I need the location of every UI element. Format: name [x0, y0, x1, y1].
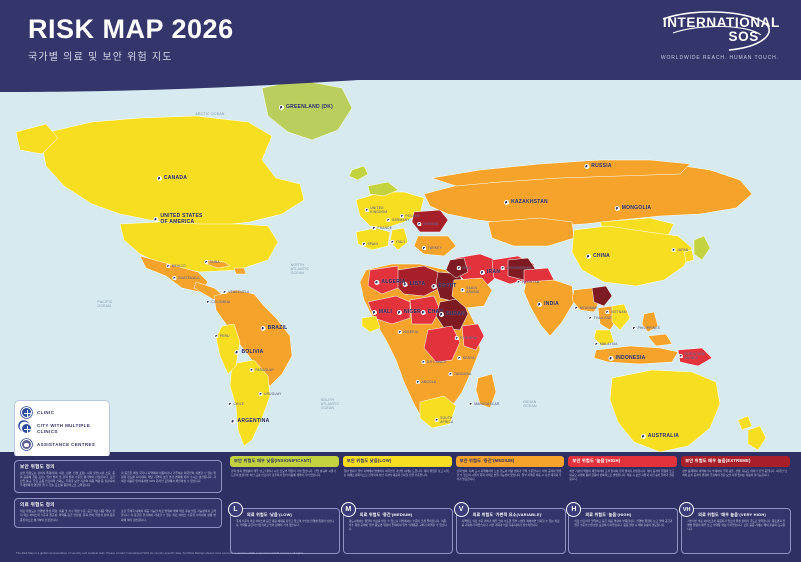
legend-row-assistance-centres: ASSISTANCE CENTRES: [21, 439, 103, 450]
map-country-name: UNITED STATES OF AMERICA: [160, 213, 202, 225]
map-country-name: MEXICO: [172, 264, 186, 268]
map-country-label[interactable]: URUGUAY: [258, 392, 281, 396]
footnote-disclaimer: The Risk Map is a global representation …: [16, 552, 304, 555]
map-country-name: GERMANY: [392, 218, 410, 222]
map-country-name: VENEZUELA: [228, 290, 249, 294]
definitions-column: 보안 위험도 정의보안 위험도는 정치적 폭력(테러, 내란, 정변, 전쟁 포…: [14, 460, 222, 533]
map-country-name: SAUDI ARABIA: [466, 286, 479, 294]
security-band-header-low[interactable]: 보안 위험도 낮음(LOW): [343, 456, 452, 467]
definition-body: 보안 위험도는 정치적 폭력(테러, 내란, 정변, 전쟁 포함), 사회 불안…: [20, 472, 115, 488]
map-country-name: INDONESIA: [615, 355, 645, 361]
security-band-body-insignificant: 강력 범죄 발생률이 매우 낮고 테러나 시민 소요의 위협이 거의 없습니다.…: [230, 467, 339, 509]
poster-header: RISK MAP 2026 국가별 의료 및 보안 위험 지도 INTERNAT…: [0, 0, 801, 80]
map-country-name: GUATEMALA: [178, 276, 200, 280]
map-country-name: POLAND: [405, 214, 420, 218]
medical-band-body-low: 국제 수준의 의료 서비스와 응급 대응 체계를 갖추고 있으며 수인성 전염병…: [231, 519, 339, 528]
map-country-label[interactable]: PAPUA NEW GUINEA: [679, 352, 706, 360]
medical-band-title-very-high: 의료 위험도 '매우 높음'(VERY HIGH): [698, 512, 766, 518]
map-country-name: COLOMBIA: [211, 300, 230, 304]
clinic-plus-icon: [386, 218, 390, 222]
clinic-plus-icon: [258, 392, 262, 396]
definition-column: 보안 위험도는 정치적 폭력(테러, 내란, 정변, 전쟁 포함), 사회 불안…: [20, 472, 115, 488]
definition-body: 의료 위험도는 전염병 발생 위험, 식품 및 식수 위생 수준, 응급 의료 …: [20, 510, 115, 522]
map-country-name: KENYA: [463, 356, 475, 360]
map-country-label[interactable]: ITALY: [390, 240, 405, 244]
security-band-body-extreme: 정부 통제력이 미약하거나 부재하며 무력 충돌, 전쟁, 대규모 테러가 진행…: [681, 467, 790, 509]
map-country-label[interactable]: SOUTH AFRICA: [435, 416, 454, 424]
map-country-label[interactable]: LIBYA: [403, 281, 426, 287]
risk-bands-row: 보안 위험도 매우 낮음(INSIGNIFICANT)강력 범죄 발생률이 매우…: [230, 456, 790, 554]
security-band-header-extreme[interactable]: 보안 위험도 매우 높음(EXTREME): [681, 456, 790, 467]
clinic-plus-icon: [517, 280, 521, 284]
map-country-label[interactable]: JAPAN: [672, 248, 689, 252]
map-country-label[interactable]: IRAQ: [457, 266, 471, 270]
assistance-centre-icon: [21, 439, 32, 450]
medical-band-card-variable: V의료 위험도 '가변적 요소(VARIABLE)'지역별로 의료 수준 편차가…: [456, 508, 566, 554]
map-country-name: ITALY: [396, 240, 406, 244]
clinic-plus-icon: [504, 200, 509, 205]
map-country-name: URUGUAY: [264, 392, 281, 396]
medical-band-body-very-high: 기본적인 의료 서비스조차 제공되지 않으며 위생 상태가 극도로 열악합니다.…: [682, 519, 790, 532]
map-country-label[interactable]: MEXICO: [166, 264, 186, 268]
map-country-label[interactable]: COLOMBIA: [206, 300, 230, 304]
definition-card: 의료 위험도 정의의료 위험도는 전염병 발생 위험, 식품 및 식수 위생 수…: [14, 498, 222, 527]
clinic-plus-icon: [574, 306, 578, 310]
risk-map-poster: RISK MAP 2026 국가별 의료 및 보안 위험 지도 INTERNAT…: [0, 0, 801, 562]
map-country-name: SUDAN: [446, 311, 465, 317]
definition-card: 보안 위험도 정의보안 위험도는 정치적 폭력(테러, 내란, 정변, 전쟁 포…: [14, 460, 222, 493]
legend-label-multiple-clinics: CITY WITH MULTIPLE CLINICS: [37, 423, 103, 434]
clinic-plus-icon: [250, 368, 254, 372]
map-country-label[interactable]: PARAGUAY: [250, 368, 275, 372]
legend-label-assistance-centres: ASSISTANCE CENTRES: [37, 442, 95, 448]
clinic-plus-icon: [455, 336, 459, 340]
risk-band-column-insignificant: 보안 위험도 매우 낮음(INSIGNIFICANT)강력 범죄 발생률이 매우…: [230, 456, 339, 554]
map-country-label[interactable]: PAKISTAN: [517, 280, 540, 284]
medical-band-card-low: L의료 위험도 '낮음'(LOW)국제 수준의 의료 서비스와 응급 대응 체계…: [230, 508, 340, 554]
definition-column: 의료 위험도는 전염병 발생 위험, 식품 및 식수 위생 수준, 응급 의료 …: [20, 510, 115, 522]
clinic-plus-icon: [372, 310, 377, 315]
medical-band-title-medium: 의료 위험도 '중간'(MEDIUM): [360, 512, 413, 518]
clinic-plus-icon: [362, 242, 366, 246]
risk-band-column-low: 보안 위험도 낮음(LOW)일반 범죄가 일부 지역에서 발생하나 외국인을 겨…: [343, 456, 452, 554]
map-country-name: MYANMAR: [580, 306, 598, 310]
map-country-label[interactable]: MALAYSIA: [594, 342, 617, 346]
map-country-label[interactable]: THAILAND: [588, 316, 611, 320]
map-country-name: GREENLAND (DK): [286, 104, 333, 110]
map-country-name: INDIA: [544, 301, 559, 307]
clinic-plus-icon: [400, 214, 404, 218]
medical-band-body-medium: 대도시에서는 양질의 의료를 받을 수 있으나 지방에서는 수준이 크게 떨어집…: [344, 519, 452, 532]
map-country-name: PAKISTAN: [522, 280, 539, 284]
map-country-name: LIBYA: [410, 281, 426, 287]
definition-body: 각 등급은 해당 국가나 지역에서 이동하거나 거주하는 외국인이 직면할 수 …: [121, 472, 216, 484]
clinic-plus-icon: [21, 407, 32, 418]
map-country-name: ALGERIA: [381, 279, 405, 285]
security-band-body-high: 치안 기관의 역량이 제한적이며 조직 범죄와 강력 범죄가 빈번합니다. 테러…: [568, 467, 677, 509]
clinic-plus-icon: [390, 240, 394, 244]
map-country-label[interactable]: CANADA: [157, 175, 187, 181]
clinic-plus-icon: [421, 310, 426, 315]
map-country-label[interactable]: AUSTRALIA: [641, 433, 679, 439]
map-country-name: DR CONGO: [427, 360, 447, 364]
map-country-name: VIETNAM: [611, 310, 627, 314]
clinic-plus-icon: [537, 302, 542, 307]
clinic-plus-icon: [172, 276, 176, 280]
map-country-name: AFGHANISTAN: [506, 266, 531, 270]
map-country-name: NIGERIA: [403, 330, 418, 334]
clinic-plus-icon: [365, 208, 369, 212]
map-country-name: UKRAINE: [423, 222, 439, 226]
map-country-label[interactable]: CHILE: [228, 402, 244, 406]
clinic-plus-icon: [234, 350, 239, 355]
map-country-label[interactable]: ANGOLA: [416, 380, 436, 384]
map-country-label[interactable]: GUATEMALA: [172, 276, 199, 280]
clinic-plus-icon: [608, 356, 613, 361]
map-ocean-label: INDIAN OCEAN: [523, 400, 537, 408]
medical-band-title-variable: 의료 위험도 '가변적 요소(VARIABLE)': [473, 512, 543, 518]
map-country-name: CANADA: [164, 175, 187, 181]
multiple-clinics-icon: [21, 423, 32, 434]
brand-logo[interactable]: INTERNATIONAL SOS WORLDWIDE REACH. HUMAN…: [661, 16, 779, 61]
map-country-label[interactable]: ETHIOPIA: [455, 336, 477, 340]
medical-band-card-very-high: VH의료 위험도 '매우 높음'(VERY HIGH)기본적인 의료 서비스조차…: [681, 508, 791, 554]
risk-band-column-high: 보안 위험도 '높음'(HIGH)치안 기관의 역량이 제한적이며 조직 범죄와…: [568, 456, 677, 554]
map-country-name: MALAYSIA: [600, 342, 618, 346]
map-country-label[interactable]: UNITED STATES OF AMERICA: [153, 213, 202, 225]
map-country-label[interactable]: RUSSIA: [584, 163, 611, 169]
clinic-plus-icon: [206, 300, 210, 304]
map-country-label[interactable]: ALGERIA: [374, 279, 405, 285]
map-country-label[interactable]: INDONESIA: [608, 355, 645, 361]
clinic-plus-icon: [153, 217, 158, 222]
map-country-label[interactable]: TURKEY: [422, 246, 442, 250]
medical-band-badge-medium[interactable]: M: [341, 502, 356, 517]
logo-mark: INTERNATIONAL SOS: [661, 16, 773, 50]
medical-band-badge-variable[interactable]: V: [454, 502, 469, 517]
map-country-label[interactable]: VIETNAM: [605, 310, 627, 314]
page-subtitle: 국가별 의료 및 보안 위험 지도: [28, 48, 234, 63]
clinic-plus-icon: [166, 264, 170, 268]
definition-title: 보안 위험도 정의: [15, 461, 221, 472]
map-country-name: ETHIOPIA: [460, 336, 477, 340]
clinic-plus-icon: [228, 402, 232, 406]
security-band-body-low: 일반 범죄가 일부 지역에서 발생하나 외국인을 겨냥한 사례는 드뭅니다. 테…: [343, 467, 452, 509]
medical-band-badge-low[interactable]: L: [228, 502, 243, 517]
clinic-plus-icon: [457, 356, 461, 360]
map-country-label[interactable]: UKRAINE: [417, 222, 439, 226]
clinic-plus-icon: [398, 330, 402, 334]
map-country-label[interactable]: MYANMAR: [574, 306, 597, 310]
map-country-label[interactable]: MALI: [372, 309, 392, 315]
map-country-name: BOLIVIA: [241, 349, 263, 355]
map-country-name: CHILE: [233, 402, 244, 406]
map-country-name: FRANCE: [377, 226, 392, 230]
risk-band-column-medium: 보안 위험도 '중간'(MEDIUM)강력 범죄, 특히 도시 지역에서의 노상…: [456, 456, 565, 554]
clinic-plus-icon: [231, 419, 236, 424]
definition-body: 또한 주재국 내에서 제공 가능한 치료 범위와 해외 의료 후송 필요 가능성…: [121, 510, 216, 522]
map-country-label[interactable]: NIGER: [397, 309, 421, 315]
medical-band-header: 의료 위험도 '낮음'(LOW): [231, 509, 339, 519]
logo-text-sos: SOS: [661, 30, 773, 44]
risk-band-column-extreme: 보안 위험도 매우 높음(EXTREME)정부 통제력이 미약하거나 부재하며 …: [681, 456, 790, 554]
map-country-name: ANGOLA: [421, 380, 436, 384]
map-country-name: EGYPT: [438, 283, 456, 289]
clinic-plus-icon: [372, 226, 376, 230]
map-country-label[interactable]: CUBA: [204, 260, 219, 264]
map-country-name: CHINA: [593, 253, 610, 259]
title-block: RISK MAP 2026 국가별 의료 및 보안 위험 지도: [28, 14, 234, 63]
medical-band-header: 의료 위험도 '가변적 요소(VARIABLE)': [457, 509, 565, 519]
map-country-label[interactable]: GERMANY: [386, 218, 409, 222]
legend-label-clinic: CLINIC: [37, 410, 54, 416]
map-country-name: IRAQ: [462, 266, 471, 270]
medical-band-header: 의료 위험도 '매우 높음'(VERY HIGH): [682, 509, 790, 519]
map-country-label[interactable]: KENYA: [457, 356, 474, 360]
map-country-label[interactable]: GREENLAND (DK): [279, 104, 333, 110]
map-country-name: NIGER: [404, 309, 421, 315]
clinic-plus-icon: [641, 434, 646, 439]
map-country-name: BRAZIL: [268, 325, 288, 331]
medical-band-card-medium: M의료 위험도 '중간'(MEDIUM)대도시에서는 양질의 의료를 받을 수 …: [343, 508, 453, 554]
map-country-label[interactable]: CHINA: [586, 253, 610, 259]
clinic-plus-icon: [261, 326, 266, 331]
clinic-plus-icon: [374, 280, 379, 285]
map-country-label[interactable]: PERU: [214, 334, 229, 338]
medical-band-title-high: 의료 위험도 '높음'(HIGH): [585, 512, 631, 518]
clinic-plus-icon: [431, 284, 436, 289]
clinic-plus-icon: [615, 206, 620, 211]
map-country-label[interactable]: SUDAN: [439, 311, 465, 317]
map-country-label[interactable]: BRAZIL: [261, 325, 288, 331]
map-country-name: PERU: [220, 334, 230, 338]
map-country-name: KAZAKHSTAN: [511, 199, 548, 205]
map-country-label[interactable]: SAUDI ARABIA: [461, 286, 480, 294]
map-country-label[interactable]: POLAND: [400, 214, 420, 218]
clinic-plus-icon: [501, 266, 505, 270]
map-country-label[interactable]: IRAN: [480, 269, 500, 275]
map-country-label[interactable]: TANZANIA: [448, 372, 471, 376]
map-country-label[interactable]: ARGENTINA: [231, 418, 270, 424]
medical-band-body-variable: 지역별로 의료 수준 편차가 매우 크며 수도권 일부 시설을 제외하면 신뢰할…: [457, 519, 565, 528]
map-country-label[interactable]: SPAIN: [362, 242, 378, 246]
map-country-label[interactable]: FRANCE: [372, 226, 392, 230]
clinic-plus-icon: [421, 360, 425, 364]
clinic-plus-icon: [417, 222, 421, 226]
clinic-plus-icon: [416, 380, 420, 384]
map-country-name: RUSSIA: [591, 163, 611, 169]
map-country-name: PHILIPPINES: [638, 326, 660, 330]
medical-band-header: 의료 위험도 '높음'(HIGH): [569, 509, 677, 519]
clinic-plus-icon: [204, 260, 208, 264]
map-country-name: UNITED KINGDOM: [370, 206, 387, 214]
map-legend-key: CLINIC CITY WITH MULTIPLE CLINICS ASSIST…: [14, 400, 110, 456]
page-title: RISK MAP 2026: [28, 14, 234, 44]
map-country-label[interactable]: NIGERIA: [398, 330, 418, 334]
clinic-plus-icon: [439, 312, 444, 317]
map-country-name: JAPAN: [677, 248, 688, 252]
clinic-plus-icon: [457, 266, 461, 270]
clinic-plus-icon: [586, 254, 591, 259]
clinic-plus-icon: [672, 248, 676, 252]
map-country-name: SPAIN: [368, 242, 379, 246]
security-band-header-high[interactable]: 보안 위험도 '높음'(HIGH): [568, 456, 677, 467]
clinic-plus-icon: [469, 402, 473, 406]
clinic-plus-icon: [397, 310, 402, 315]
map-country-label[interactable]: MADAGASCAR: [469, 402, 500, 406]
map-ocean-label: PACIFIC OCEAN: [97, 300, 112, 308]
map-country-label[interactable]: KAZAKHSTAN: [504, 199, 548, 205]
map-country-name: SOUTH AFRICA: [440, 416, 453, 424]
map-country-label[interactable]: DR CONGO: [421, 360, 446, 364]
map-country-name: TURKEY: [428, 246, 442, 250]
map-ocean-label: NORTH ATLANTIC OCEAN: [291, 263, 310, 275]
map-country-label[interactable]: AFGHANISTAN: [501, 266, 532, 270]
map-country-name: THAILAND: [594, 316, 612, 320]
map-country-name: TANZANIA: [454, 372, 472, 376]
map-country-name: PARAGUAY: [255, 368, 274, 372]
medical-band-title-low: 의료 위험도 '낮음'(LOW): [247, 512, 292, 518]
legend-row-clinic: CLINIC: [21, 407, 103, 418]
map-country-name: MALI: [379, 309, 392, 315]
legend-panel: 보안 위험도 정의보안 위험도는 정치적 폭력(테러, 내란, 정변, 전쟁 포…: [0, 452, 801, 562]
clinic-plus-icon: [588, 316, 592, 320]
clinic-plus-icon: [584, 164, 589, 169]
clinic-plus-icon: [157, 176, 162, 181]
security-band-header-medium[interactable]: 보안 위험도 '중간'(MEDIUM): [456, 456, 565, 467]
legend-row-multiple-clinics: CITY WITH MULTIPLE CLINICS: [21, 423, 103, 434]
map-country-label[interactable]: VENEZUELA: [223, 290, 250, 294]
definition-title: 의료 위험도 정의: [15, 499, 221, 510]
logo-tagline: WORLDWIDE REACH. HUMAN TOUCH.: [661, 55, 779, 61]
map-country-name: CUBA: [210, 260, 220, 264]
map-country-name: AUSTRALIA: [648, 433, 679, 439]
map-country-name: MADAGASCAR: [474, 402, 499, 406]
map-ocean-label: ARCTIC OCEAN: [195, 112, 224, 116]
map-country-name: MONGOLIA: [622, 205, 652, 211]
clinic-plus-icon: [605, 310, 609, 314]
map-ocean-label: SOUTH ATLANTIC OCEAN: [321, 398, 340, 410]
medical-band-body-high: 의료 인프라가 열악하고 응급 대응 역량이 부족합니다. 전염병 위험이 높고…: [569, 519, 677, 528]
clinic-plus-icon: [480, 270, 485, 275]
map-country-name: ARGENTINA: [238, 418, 270, 424]
medical-band-card-high: H의료 위험도 '높음'(HIGH)의료 인프라가 열악하고 응급 대응 역량이…: [568, 508, 678, 554]
world-map[interactable]: CLINIC CITY WITH MULTIPLE CLINICS ASSIST…: [0, 74, 801, 456]
medical-band-header: 의료 위험도 '중간'(MEDIUM): [344, 509, 452, 519]
map-country-label[interactable]: EGYPT: [431, 283, 456, 289]
security-band-header-insignificant[interactable]: 보안 위험도 매우 낮음(INSIGNIFICANT): [230, 456, 339, 467]
map-country-label[interactable]: MONGOLIA: [615, 205, 652, 211]
map-country-label[interactable]: INDIA: [537, 301, 559, 307]
clinic-plus-icon: [223, 290, 227, 294]
logo-text-international: INTERNATIONAL: [661, 16, 773, 30]
clinic-plus-icon: [435, 418, 439, 422]
clinic-plus-icon: [448, 372, 452, 376]
world-map-svg: [0, 74, 801, 456]
map-country-name: PAPUA NEW GUINEA: [684, 352, 705, 360]
clinic-plus-icon: [279, 105, 284, 110]
clinic-plus-icon: [461, 288, 465, 292]
map-country-label[interactable]: PHILIPPINES: [632, 326, 660, 330]
security-band-body-medium: 강력 범죄, 특히 도시 지역에서의 노상 강도와 차량 범죄가 우려 수준입니…: [456, 467, 565, 509]
clinic-plus-icon: [679, 354, 683, 358]
map-country-label[interactable]: UNITED KINGDOM: [365, 206, 388, 214]
definition-column: 각 등급은 해당 국가나 지역에서 이동하거나 거주하는 외국인이 직면할 수 …: [121, 472, 216, 488]
map-country-name: IRAN: [487, 269, 500, 275]
clinic-plus-icon: [594, 342, 598, 346]
clinic-plus-icon: [214, 334, 218, 338]
clinic-plus-icon: [632, 326, 636, 330]
definition-column: 또한 주재국 내에서 제공 가능한 치료 범위와 해외 의료 후송 필요 가능성…: [121, 510, 216, 522]
clinic-plus-icon: [422, 246, 426, 250]
map-country-label[interactable]: BOLIVIA: [234, 349, 263, 355]
